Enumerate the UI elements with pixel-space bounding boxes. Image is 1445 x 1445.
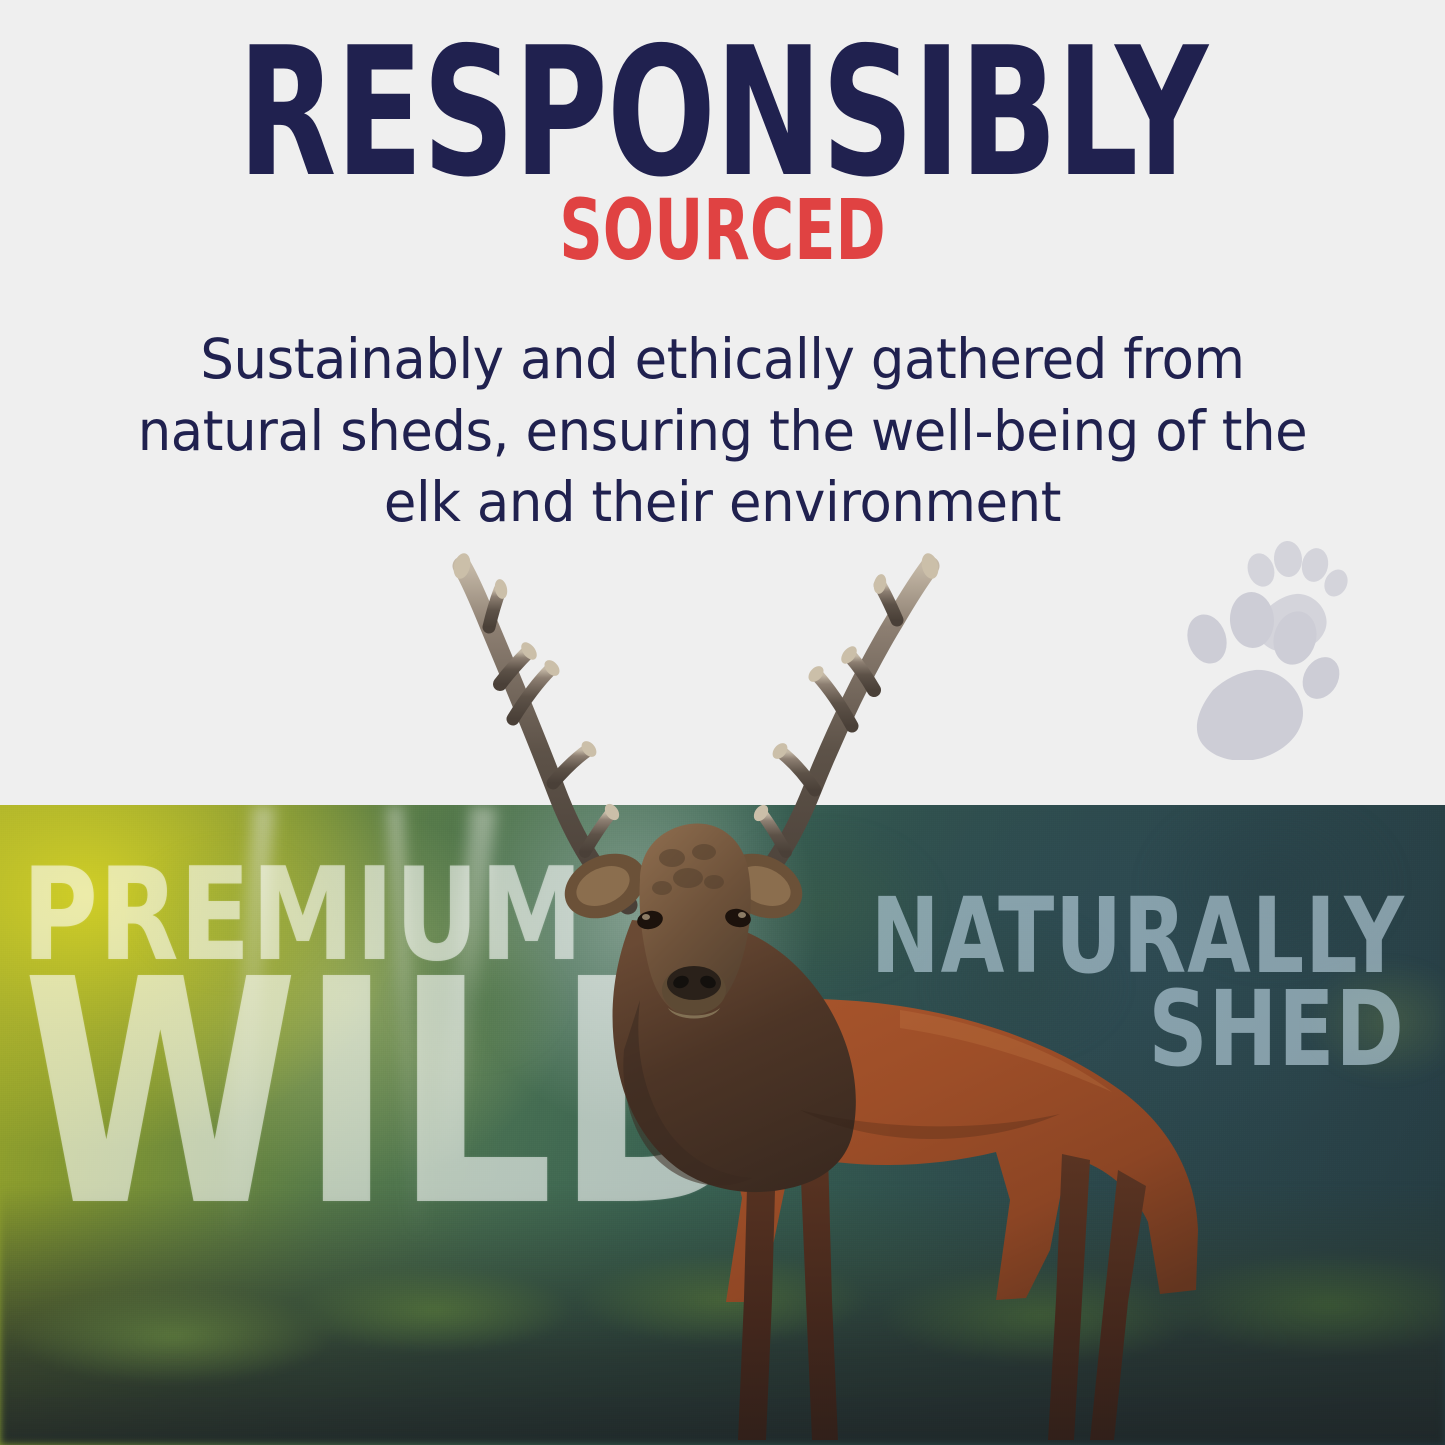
page-title: RESPONSIBLY [145, 44, 1301, 183]
page-subtitle: SOURCED [145, 196, 1301, 265]
overlay-wild-label: WILD [22, 971, 764, 1219]
headline-panel: RESPONSIBLY SOURCED Sustainably and ethi… [0, 0, 1445, 805]
product-feature-card: PREMIUM WILD NATURALLY SHED RESPONSIBLY … [0, 0, 1445, 1445]
overlay-text-naturally-shed: NATURALLY SHED [871, 893, 1405, 1074]
overlay-text-premium-wild: PREMIUM WILD [22, 865, 764, 1219]
overlay-shed-label: SHED [871, 986, 1405, 1073]
paw-prints-decoration [1165, 515, 1410, 760]
hero-photo: PREMIUM WILD NATURALLY SHED [0, 805, 1445, 1445]
description-text: Sustainably and ethically gathered from … [120, 324, 1325, 539]
overlay-naturally-label: NATURALLY [871, 893, 1405, 980]
